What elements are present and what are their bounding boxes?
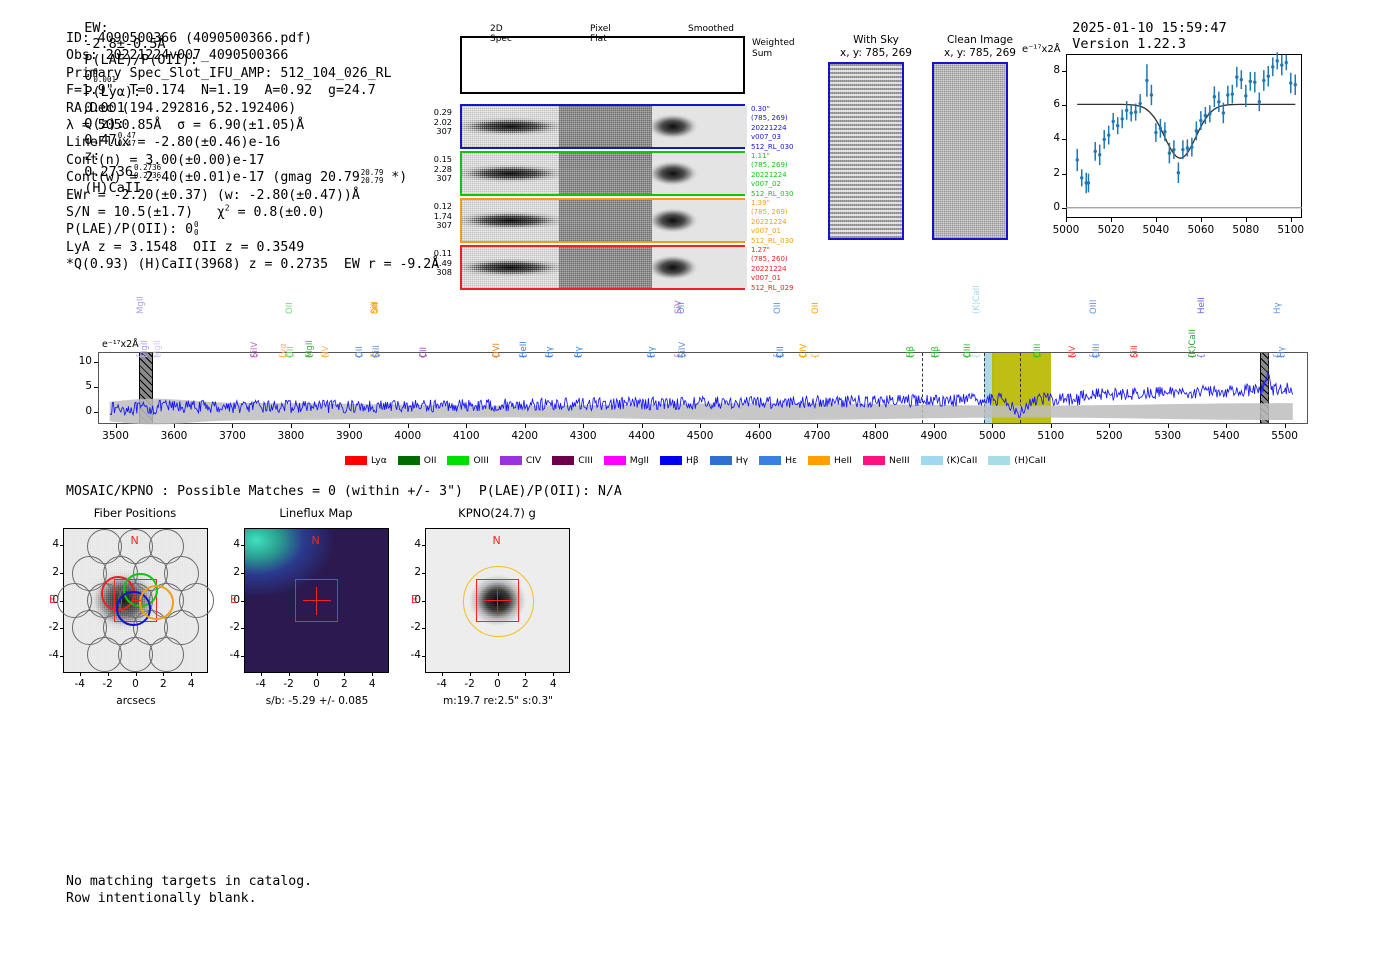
footer-line-2: Row intentionally blank. [66, 890, 312, 907]
line-fit-xtick-5100 [1291, 218, 1292, 222]
spectrum-legend-label-6: Hβ [686, 455, 699, 466]
full-spectrum-plot: e⁻¹⁷x2Å350036003700380039004000410042004… [0, 268, 1400, 473]
line-fit-ytick-4 [1062, 139, 1066, 140]
cutout-0-coords: x, y: 785, 269 [816, 47, 936, 60]
panel-1-xtick-label--4: -4 [249, 678, 273, 690]
spectrum-selected-band [992, 353, 1050, 423]
spectrum-marker-2 [1020, 353, 1021, 423]
spectrum-xtick-3800 [291, 424, 292, 428]
panel-2-ytick-0 [422, 601, 425, 602]
spectrum-xtick-label-4900: 4900 [912, 430, 956, 442]
spectrum-legend-label-12: (H)CaII [1014, 455, 1046, 466]
fiber-highlight-3 [139, 585, 174, 620]
spec-row-2-stat-2: 307 [418, 221, 452, 231]
spec-row-2-meta-3: v007_01 [751, 227, 821, 236]
spectrum-legend-label-8: Hε [785, 455, 797, 466]
spectrum-line-brace-25: { [811, 353, 821, 359]
spectrum-marker-0 [922, 353, 923, 423]
spectrum-line-label-36: HeII [1197, 297, 1207, 314]
panel-2-xtick--2 [470, 673, 471, 676]
spectrum-xtick-5000 [992, 424, 993, 428]
panel-1-xtick-label-2: 2 [332, 678, 356, 690]
panel-0-xtick-label-4: 4 [179, 678, 203, 690]
spectrum-legend-label-10: NeIII [889, 455, 910, 466]
panel-1-xtick-label-4: 4 [360, 678, 384, 690]
spectrum-marker-1 [984, 353, 985, 423]
panel-0-ytick-4 [60, 545, 63, 546]
spectrum-line-brace-27: { [931, 353, 941, 359]
panel-2-ytick-label-2: 2 [403, 566, 421, 578]
bottom-panels: Fiber Positions-4-4-2-2002244arcsecsNELi… [0, 505, 640, 720]
spectrum-line-label-29: (K)CaII [972, 285, 982, 314]
spectrum-xtick-4500 [700, 424, 701, 428]
spectrum-line-brace-3: { [250, 353, 260, 359]
spec-row-0-left-stats: 0.292.02307 [418, 108, 452, 137]
panel-1-ytick-label-4: 4 [222, 538, 240, 550]
spectrum-line-brace-7: { [305, 353, 315, 359]
spectrum-line-brace-21: { [678, 353, 688, 359]
spectrum-line-brace-9: { [355, 353, 365, 359]
panel-1-ytick-label--2: -2 [222, 621, 240, 633]
timestamp: 2025-01-10 15:59:47 [1072, 20, 1226, 36]
panel-1-title: Lineflux Map [231, 506, 401, 520]
panel-2-ytick-label-4: 4 [403, 538, 421, 550]
spec-row-1-left-stats: 0.152.28307 [418, 155, 452, 184]
info-lineflux: LineFlux = -2.80(±0.46)e-16 [66, 134, 439, 151]
spectrum-xtick-label-3800: 3800 [269, 430, 313, 442]
panel-1-ytick-label-2: 2 [222, 566, 240, 578]
spectrum-xtick-4200 [525, 424, 526, 428]
spec-row-0-meta-3: v007_03 [751, 133, 821, 142]
info-wavelength-sigma: λ = 5050.85Å σ = 6.90(±1.05)Å [66, 117, 439, 134]
panel-0-ytick-2 [60, 573, 63, 574]
panel-1-ytick-label--4: -4 [222, 649, 240, 661]
spectrum-line-brace-31: { [1068, 353, 1078, 359]
info-snr-a: S/N = 10.5(±1.7) χ [66, 205, 225, 220]
spec-row-0-flat [559, 106, 652, 147]
spec-row-1-meta-3: v007_02 [751, 180, 821, 189]
spectrum-legend-item-7: Hγ [710, 455, 748, 466]
spec-row-2-meta: 1.39"(785, 269)20221224v007_01512_RL_030 [751, 199, 821, 246]
spectrum-line-label-22: OII [773, 302, 783, 314]
spec-row-1-meta-1: (785, 269) [751, 161, 821, 170]
spectrum-line-label-37: Hγ [1273, 302, 1283, 314]
spectrum-legend-item-4: CIII [552, 455, 593, 466]
panel-2-ytick-label--2: -2 [403, 621, 421, 633]
panel-2-xtick-label--4: -4 [430, 678, 454, 690]
spectrum-legend-label-0: Lyα [371, 455, 387, 466]
panel-2-caption: m:19.7 re:2.5" s:0.3" [403, 695, 593, 707]
fiber-18 [149, 637, 184, 672]
line-fit-xtick-5040 [1156, 218, 1157, 222]
spec-row-1-stat-2: 307 [418, 174, 452, 184]
weighted-sum-label: WeightedSum [752, 38, 795, 60]
spectrum-xtick-4700 [817, 424, 818, 428]
spectrum-line-brace-30: { [1033, 353, 1043, 359]
spectrum-xtick-label-3700: 3700 [210, 430, 254, 442]
spectrum-xtick-4900 [934, 424, 935, 428]
spec-row-1-meta: 1.11"(785, 269)20221224v007_02512_RL_030 [751, 152, 821, 199]
cutout-1-image [932, 62, 1008, 240]
panel-1-xtick-2 [344, 673, 345, 676]
spectrum-line-label-0: MgII [136, 296, 146, 314]
panel-1-ytick-2 [241, 573, 244, 574]
panel-0-ytick-label-4: 4 [41, 538, 59, 550]
spec-row-2-meta-4: 512_RL_030 [751, 237, 821, 246]
panel-1-xtick-label--2: -2 [277, 678, 301, 690]
spectrum-xtick-label-3600: 3600 [152, 430, 196, 442]
spectrum-legend-item-2: OIII [447, 455, 488, 466]
line-fit-ytick-label-0: 0 [1044, 201, 1060, 213]
panel-1-ytick--4 [241, 656, 244, 657]
line-fit-xtick-label-5060: 5060 [1183, 224, 1219, 236]
spectrum-line-brace-29: { [972, 353, 982, 359]
panel-2-xtick-4 [553, 673, 554, 676]
spectrum-line-brace-34: { [1130, 353, 1140, 359]
spectrum-line-brace-14: { [492, 353, 502, 359]
panel-1-ytick-4 [241, 545, 244, 546]
spectrum-marker-3 [1268, 353, 1269, 423]
spectrum-legend-label-2: OIII [473, 455, 488, 466]
spec-row-0-smoothed [652, 106, 747, 147]
spectrum-line-brace-1: { [140, 353, 150, 359]
spectrum-line-brace-23: { [776, 353, 786, 359]
spectrum-legend-swatch-0 [345, 456, 367, 465]
info-cont-n: Cont(n) = 3.00(±0.00)e-17 [66, 152, 439, 169]
spec-row-3-meta-1: (785, 260) [751, 255, 821, 264]
panel-0-xtick-0 [136, 673, 137, 676]
spectrum-legend-label-3: CIV [526, 455, 541, 466]
spectrum-legend-swatch-10 [863, 456, 885, 465]
spectrum-ytick-label-10: 10 [74, 355, 92, 367]
panel-0-xtick-label--2: -2 [96, 678, 120, 690]
spec-row-2 [460, 198, 745, 243]
spectrum-xtick-4100 [466, 424, 467, 428]
spectrum-legend-item-12: (H)CaII [988, 455, 1046, 466]
spectrum-xtick-4300 [583, 424, 584, 428]
spectrum-legend-label-4: CIII [578, 455, 593, 466]
panel-2-ytick--2 [422, 628, 425, 629]
spectrum-xtick-label-4300: 4300 [561, 430, 605, 442]
spectrum-xtick-label-4600: 4600 [737, 430, 781, 442]
spectrum-legend-swatch-6 [660, 456, 682, 465]
info-id: ID: 4090500366 (4090500366.pdf) [66, 30, 439, 47]
spectrum-xtick-5400 [1226, 424, 1227, 428]
spectrum-line-label-32: OIII [1089, 300, 1099, 314]
spectrum-legend-swatch-9 [808, 456, 830, 465]
spectrum-xtick-label-5200: 5200 [1087, 430, 1131, 442]
cutout-0-image [828, 62, 904, 240]
spec-row-1-flat [559, 153, 652, 194]
panel-2-ytick-4 [422, 545, 425, 546]
spectrum-line-brace-8: { [321, 353, 331, 359]
spectrum-legend-item-3: CIV [500, 455, 541, 466]
line-fit-plot: e⁻¹⁷x2Å50005020504050605080510002468 [1022, 44, 1312, 244]
spec-row-2-2d [462, 200, 559, 241]
panel-0-compass-e: E [49, 593, 56, 606]
panel-1-crosshair-v [316, 587, 318, 615]
spectrum-line-brace-26: { [906, 353, 916, 359]
spectrum-line-label-5: OII [285, 302, 295, 314]
panel-1-compass-n: N [312, 534, 320, 547]
spec-row-3-meta-0: 1.27" [751, 246, 821, 255]
spectrum-xtick-3500 [116, 424, 117, 428]
info-snr-chi2: S/N = 10.5(±1.7) χ2 = 0.8(±0.0) [66, 204, 439, 221]
spectrum-line-brace-12: { [372, 353, 382, 359]
panel-1-ytick-0 [241, 601, 244, 602]
spectrum-xtick-5100 [1051, 424, 1052, 428]
spectrum-legend-label-9: HeII [834, 455, 852, 466]
info-cont-w-b: *) [391, 170, 407, 185]
spectrum-xtick-4600 [759, 424, 760, 428]
info-snr-b: = 0.8(±0.0) [230, 205, 325, 220]
fiber-17 [118, 637, 153, 672]
spec-row-2-meta-2: 20221224 [751, 218, 821, 227]
panel-0-xtick--4 [80, 673, 81, 676]
spectrum-masked-band-0 [139, 353, 153, 423]
line-fit-axes [1066, 54, 1302, 218]
spec-row-0-meta-0: 0.30" [751, 105, 821, 114]
spectrum-line-brace-36: { [1197, 353, 1207, 359]
spectrum-legend-label-5: MgII [630, 455, 649, 466]
spec-row-0-stat-2: 307 [418, 127, 452, 137]
spectrum-ytick-5 [94, 387, 98, 388]
panel-0-ytick-label-2: 2 [41, 566, 59, 578]
info-cont-w-a: Cont(w) = 2.40(±0.01)e-17 (gmag 20.79 [66, 170, 360, 185]
spec-row-2-left-stats: 0.121.74307 [418, 202, 452, 231]
spectrum-legend-label-1: OII [424, 455, 437, 466]
panel-0-xtick-label-2: 2 [151, 678, 175, 690]
line-fit-ytick-label-2: 2 [1044, 167, 1060, 179]
spectrum-xtick-label-5500: 5500 [1263, 430, 1307, 442]
panel-0-xtick-label--4: -4 [68, 678, 92, 690]
spectrum-legend-swatch-2 [447, 456, 469, 465]
spectrum-ytick-label-0: 0 [74, 405, 92, 417]
weighted-sum-row [460, 36, 745, 94]
spec-row-1-2d [462, 153, 559, 194]
line-fit-xtick-label-5040: 5040 [1138, 224, 1174, 236]
spectrum-legend-item-8: Hε [759, 455, 797, 466]
line-fit-ytick-8 [1062, 71, 1066, 72]
spec-row-0-meta-1: (785, 269) [751, 114, 821, 123]
spectrum-line-brace-6: { [286, 353, 296, 359]
panel-2-xtick-2 [525, 673, 526, 676]
panel-2-source-ellipse [463, 566, 533, 636]
panel-1-xtick--4 [261, 673, 262, 676]
panel-2-xtick-label-2: 2 [513, 678, 537, 690]
spectrum-line-label-25: OII [811, 302, 821, 314]
line-fit-xtick-5000 [1066, 218, 1067, 222]
spectrum-legend-item-6: Hβ [660, 455, 699, 466]
spectrum-legend-swatch-8 [759, 456, 781, 465]
spectrum-legend-item-11: (K)CaII [921, 455, 978, 466]
line-fit-xtick-label-5100: 5100 [1273, 224, 1309, 236]
spectrum-xtick-3700 [232, 424, 233, 428]
panel-0-ytick-label--2: -2 [41, 621, 59, 633]
panel-1-compass-e: E [230, 593, 237, 606]
line-fit-xtick-label-5020: 5020 [1093, 224, 1129, 236]
spectrum-legend-swatch-4 [552, 456, 574, 465]
spectrum-xtick-label-5300: 5300 [1146, 430, 1190, 442]
spectrum-xtick-label-4800: 4800 [853, 430, 897, 442]
spectrum-line-brace-33: { [1092, 353, 1102, 359]
panel-2-ytick-label--4: -4 [403, 649, 421, 661]
info-seeing-throughput: F=1.9" T=0.174 N=1.19 A=0.92 g=24.7 [66, 82, 439, 99]
weighted-sum-label-1: Weighted [752, 38, 795, 49]
footer-message: No matching targets in catalog. Row inte… [66, 873, 312, 908]
spec-row-0-2d [462, 106, 559, 147]
panel-2-title: KPNO(24.7) g [412, 506, 582, 520]
line-fit-ytick-6 [1062, 105, 1066, 106]
panel-1-ytick--2 [241, 628, 244, 629]
spectrum-line-brace-38: { [1277, 353, 1287, 359]
spectrum-xtick-label-3500: 3500 [94, 430, 138, 442]
panel-2-xtick-0 [498, 673, 499, 676]
spec-column-header-2: Smoothed [688, 24, 734, 34]
spectrum-xtick-label-5000: 5000 [970, 430, 1014, 442]
spectrum-xtick-4000 [408, 424, 409, 428]
spectrum-xtick-4400 [642, 424, 643, 428]
spec-row-1 [460, 151, 745, 196]
panel-0-title: Fiber Positions [50, 506, 220, 520]
spectrum-xtick-3900 [349, 424, 350, 428]
spectrum-legend-swatch-3 [500, 456, 522, 465]
line-fit-xtick-label-5000: 5000 [1048, 224, 1084, 236]
cutout-0-title-text: With Sky [816, 34, 936, 47]
panel-0-ytick--4 [60, 656, 63, 657]
info-plae: P(LAE)/P(OII): 000 [66, 221, 439, 238]
spectrum-xtick-4800 [875, 424, 876, 428]
info-plae-a: P(LAE)/P(OII): 0 [66, 222, 193, 237]
panel-1-xtick-label-0: 0 [305, 678, 329, 690]
spectrum-axes [98, 352, 1308, 424]
panel-2-xtick--4 [442, 673, 443, 676]
spectrum-legend-swatch-5 [604, 456, 626, 465]
spectrum-line-brace-16: { [545, 353, 555, 359]
spec-row-0-meta-2: 20221224 [751, 124, 821, 133]
panel-1-xtick-4 [372, 673, 373, 676]
spec-row-2-meta-1: (785, 269) [751, 208, 821, 217]
spectrum-units-annotation: e⁻¹⁷x2Å [102, 339, 139, 350]
spectrum-line-label-20: OII [677, 302, 687, 314]
spectrum-xtick-label-5400: 5400 [1204, 430, 1248, 442]
spectrum-xtick-label-4100: 4100 [444, 430, 488, 442]
spec-row-1-meta-0: 1.11" [751, 152, 821, 161]
spec-row-0-meta-4: 512_RL_030 [751, 143, 821, 152]
spec-row-2-flat [559, 200, 652, 241]
spectrum-line-brace-15: { [519, 353, 529, 359]
panel-0-crosshair-v [135, 597, 137, 606]
panel-1-caption: s/b: -5.29 +/- 0.085 [222, 695, 412, 707]
spec-row-0 [460, 104, 745, 149]
panel-0-xtick-2 [163, 673, 164, 676]
spectrum-legend-item-10: NeIII [863, 455, 910, 466]
spectrum-xtick-label-4000: 4000 [386, 430, 430, 442]
panel-0-caption: arcsecs [41, 695, 231, 707]
panel-2-xtick-label-0: 0 [486, 678, 510, 690]
spectrum-xtick-label-4700: 4700 [795, 430, 839, 442]
cutout-0-title: With Skyx, y: 785, 269 [816, 34, 936, 59]
info-ewr: EWr = -2.20(±0.37) (w: -2.80(±0.47))Å [66, 187, 439, 204]
spectrum-xtick-5300 [1168, 424, 1169, 428]
spectrum-legend: LyαOIIOIIICIVCIIIMgIIHβHγHεHeIINeIII(K)C… [345, 450, 1057, 469]
panel-0-xtick-label-0: 0 [124, 678, 148, 690]
line-fit-ytick-label-8: 8 [1044, 64, 1060, 76]
spectrum-legend-label-11: (K)CaII [947, 455, 978, 466]
info-primary-spec: Primary Spec_Slot_IFU_AMP: 512_104_026_R… [66, 65, 439, 82]
info-radec: RA,Dec (194.292816,52.192406) [66, 100, 439, 117]
spectrum-legend-swatch-7 [710, 456, 732, 465]
spectrum-xtick-5200 [1109, 424, 1110, 428]
line-fit-xtick-5020 [1111, 218, 1112, 222]
panel-0-xtick-4 [191, 673, 192, 676]
spectrum-xtick-label-5100: 5100 [1029, 430, 1073, 442]
info-obs: Obs: 20221224v007_4090500366 [66, 47, 439, 64]
line-fit-ytick-0 [1062, 208, 1066, 209]
spectrum-legend-item-5: MgII [604, 455, 649, 466]
spec-row-1-smoothed [652, 153, 747, 194]
line-fit-xtick-5080 [1246, 218, 1247, 222]
line-fit-ytick-label-6: 6 [1044, 98, 1060, 110]
spectrum-legend-item-1: OII [398, 455, 437, 466]
panel-2-compass-n: N [493, 534, 501, 547]
panel-0-xtick--2 [108, 673, 109, 676]
spectrum-legend-item-0: Lyα [345, 455, 387, 466]
spec-row-0-meta: 0.30"(785, 269)20221224v007_03512_RL_030 [751, 105, 821, 152]
mosaic-headline: MOSAIC/KPNO : Possible Matches = 0 (with… [66, 484, 622, 499]
info-cont-w-sub: 20.79 [361, 177, 384, 185]
spectrum-xtick-label-4400: 4400 [620, 430, 664, 442]
line-fit-xtick-label-5080: 5080 [1228, 224, 1264, 236]
spectrum-xtick-label-4200: 4200 [503, 430, 547, 442]
panel-2-xtick-label--2: -2 [458, 678, 482, 690]
spectrum-xtick-label-4500: 4500 [678, 430, 722, 442]
spectrum-ytick-0 [94, 412, 98, 413]
spectrum-line-brace-18: { [647, 353, 657, 359]
weighted-sum-label-2: Sum [752, 49, 795, 60]
panel-2-ytick-2 [422, 573, 425, 574]
panel-1-xtick-0 [317, 673, 318, 676]
spec-row-2-smoothed [652, 200, 747, 241]
spectrum-line-brace-17: { [574, 353, 584, 359]
spec-row-2-meta-0: 1.39" [751, 199, 821, 208]
spectrum-xtick-5500 [1285, 424, 1286, 428]
panel-0-ytick--2 [60, 628, 63, 629]
spectrum-legend-label-7: Hγ [736, 455, 748, 466]
spectrum-line-brace-24: { [799, 353, 809, 359]
line-fit-ytick-label-4: 4 [1044, 132, 1060, 144]
spec-row-1-meta-4: 512_RL_030 [751, 190, 821, 199]
spectrum-line-label-11: OII [371, 302, 381, 314]
spec-row-1-meta-2: 20221224 [751, 171, 821, 180]
info-plae-sub: 0 [194, 229, 199, 237]
spectrum-line-brace-2: { [153, 353, 163, 359]
line-fit-xtick-5060 [1201, 218, 1202, 222]
spectrum-ytick-10 [94, 362, 98, 363]
line-fit-ytick-2 [1062, 174, 1066, 175]
panel-2-ytick--4 [422, 656, 425, 657]
info-cont-w: Cont(w) = 2.40(±0.01)e-17 (gmag 20.7920.… [66, 169, 439, 186]
panel-1-xtick--2 [289, 673, 290, 676]
panel-0-ytick-label--4: -4 [41, 649, 59, 661]
source-info-block: ID: 4090500366 (4090500366.pdf) Obs: 202… [66, 30, 439, 274]
spectrum-line-brace-13: { [419, 353, 429, 359]
spectrum-legend-item-9: HeII [808, 455, 852, 466]
footer-line-1: No matching targets in catalog. [66, 873, 312, 890]
info-redshifts: LyA z = 3.1548 OII z = 0.3549 [66, 239, 439, 256]
spectrum-ytick-label-5: 5 [74, 380, 92, 392]
panel-2-xtick-label-4: 4 [541, 678, 565, 690]
